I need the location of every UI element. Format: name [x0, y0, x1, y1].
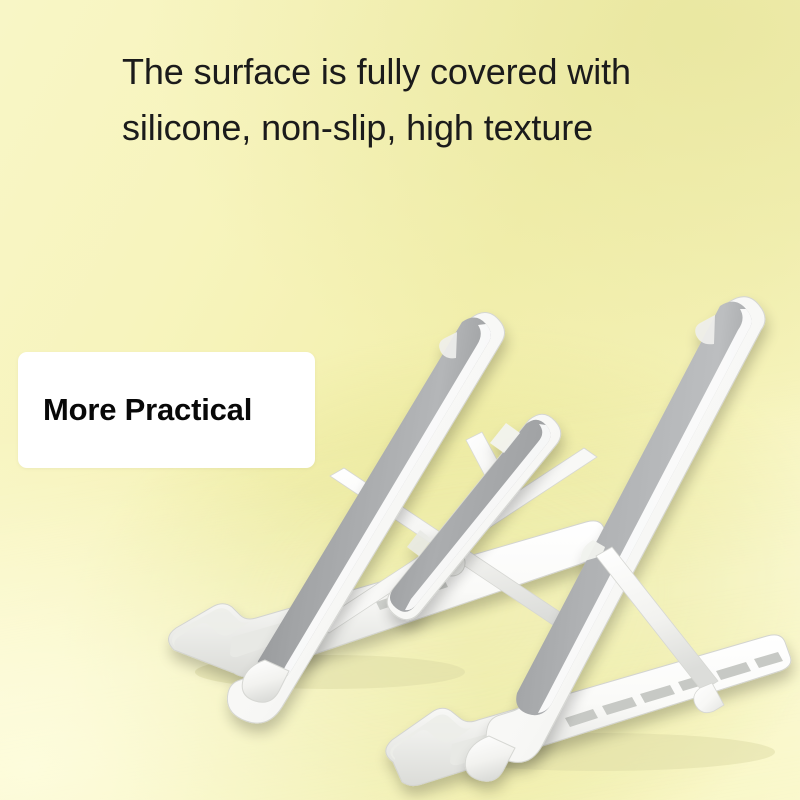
headline-line-2: silicone, non-slip, high texture — [122, 100, 722, 156]
feature-badge: More Practical — [18, 352, 315, 468]
feature-badge-label: More Practical — [18, 392, 252, 428]
headline-line-1: The surface is fully covered with — [122, 44, 722, 100]
product-banner: The surface is fully covered with silico… — [0, 0, 800, 800]
page-title: The surface is fully covered with silico… — [122, 44, 722, 156]
